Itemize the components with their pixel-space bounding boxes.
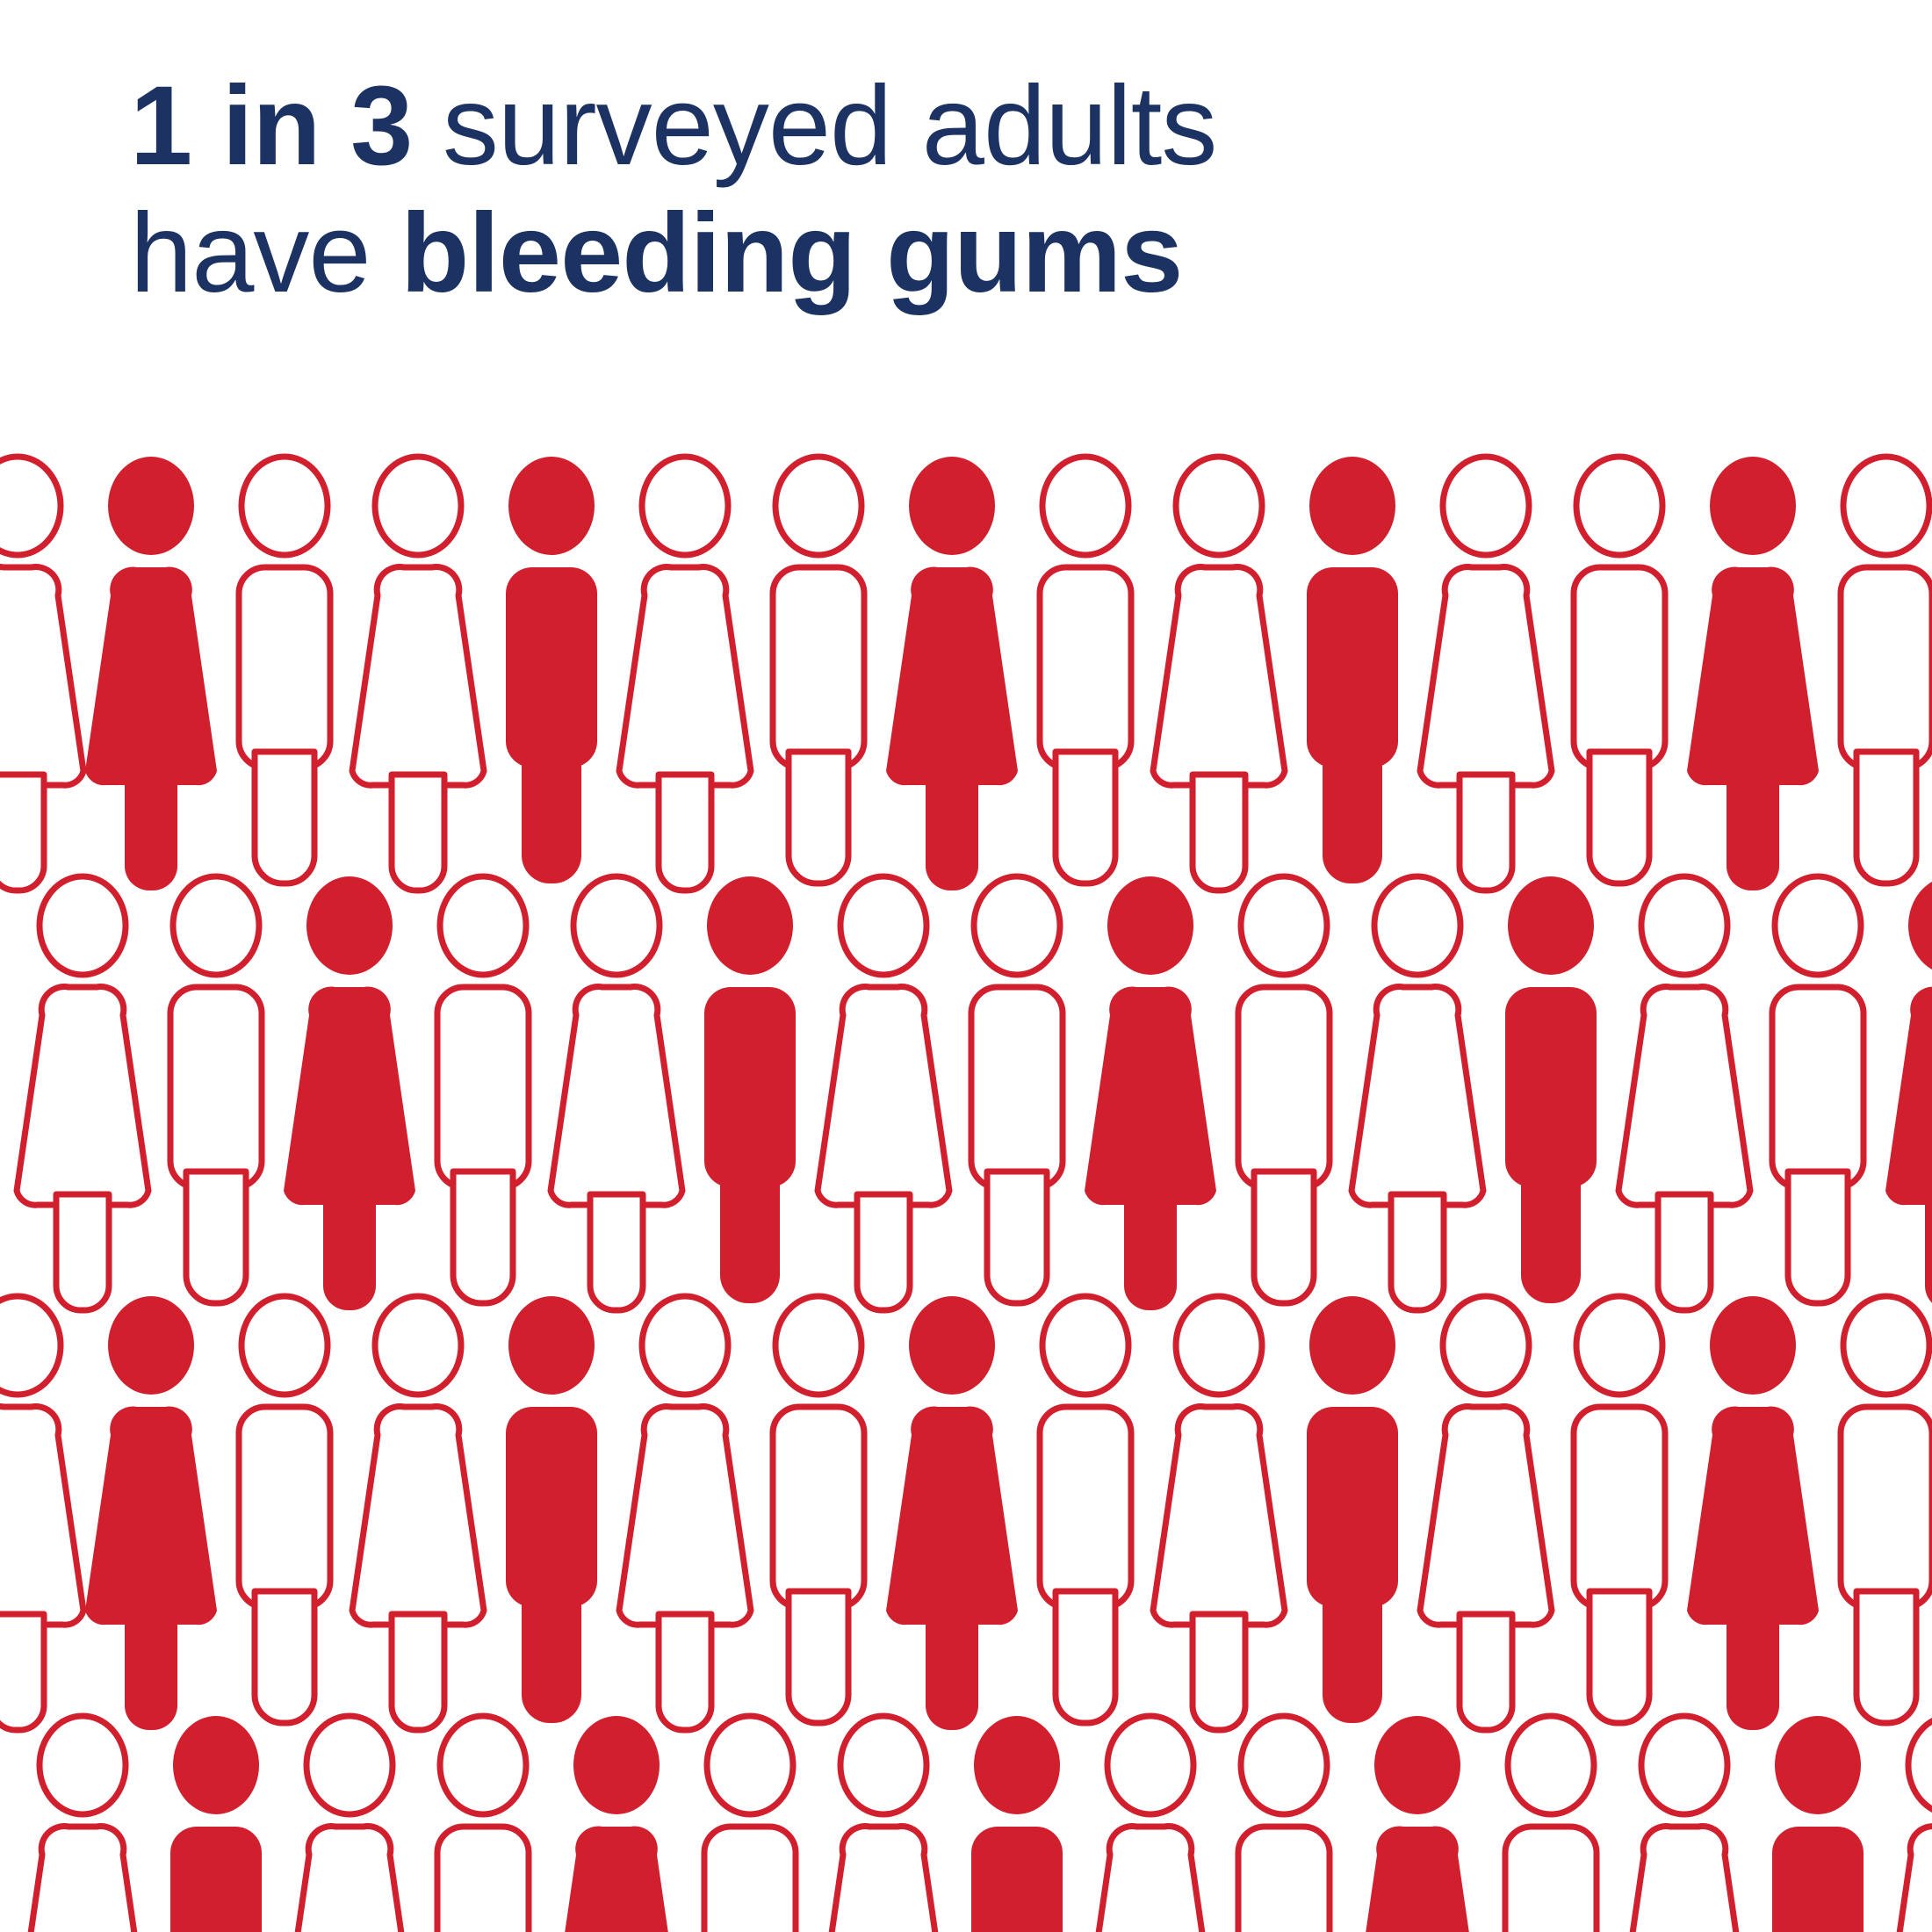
person-icon-male-outline <box>1238 1716 1330 1932</box>
person-icon-female-filled <box>1687 457 1819 890</box>
person-icon-male-outline <box>1238 876 1330 1303</box>
person-icon-male-outline <box>437 876 529 1303</box>
person-icon-male-outline <box>1040 457 1131 883</box>
person-icon-female-outline <box>352 457 484 890</box>
person-icon-male-filled <box>1307 1296 1398 1723</box>
person-icon-male-filled <box>1505 876 1597 1303</box>
person-icon-male-outline <box>704 1716 796 1932</box>
person-icon-male-outline <box>1040 1296 1131 1723</box>
person-icon-female-outline <box>1153 457 1285 890</box>
person-icon-male-outline <box>1772 876 1864 1303</box>
person-icon-female-filled <box>85 1296 217 1730</box>
person-icon-male-filled <box>971 1716 1063 1932</box>
person-icon-male-outline <box>170 876 262 1303</box>
person-icon-female-outline <box>818 1716 949 1932</box>
person-icon-female-outline <box>352 1296 484 1730</box>
person-icon-female-outline <box>1618 876 1750 1310</box>
person-icon-male-filled <box>506 1296 597 1723</box>
person-icon-female-outline <box>1352 876 1483 1310</box>
person-icon-male-outline <box>1505 1716 1597 1932</box>
person-icon-female-outline <box>551 876 682 1310</box>
person-icon-female-outline <box>17 1716 148 1932</box>
person-icon-female-outline <box>1618 1716 1750 1932</box>
person-icon-male-filled <box>1772 1716 1864 1932</box>
person-icon-female-filled <box>1085 876 1216 1310</box>
person-icon-female-outline <box>17 876 148 1310</box>
person-icon-female-outline <box>619 1296 751 1730</box>
person-icon-female-filled <box>886 457 1018 890</box>
person-icon-male-filled <box>170 1716 262 1932</box>
pictogram-figures <box>0 0 1932 1932</box>
person-icon-female-filled <box>1352 1716 1483 1932</box>
person-icon-male-outline <box>773 1296 864 1723</box>
person-icon-female-filled <box>551 1716 682 1932</box>
person-icon-male-outline <box>1574 457 1665 883</box>
person-icon-female-filled <box>1885 876 1932 1310</box>
person-icon-male-outline <box>971 876 1063 1303</box>
person-icon-male-outline <box>1841 1296 1932 1723</box>
person-icon-male-outline <box>1841 457 1932 883</box>
person-icon-male-outline <box>437 1716 529 1932</box>
person-icon-male-outline <box>239 1296 330 1723</box>
person-icon-female-filled <box>85 457 217 890</box>
person-icon-female-outline <box>1885 1716 1932 1932</box>
person-icon-female-outline <box>284 1716 415 1932</box>
person-icon-female-filled <box>284 876 415 1310</box>
person-icon-female-outline <box>0 457 83 890</box>
person-icon-female-outline <box>1153 1296 1285 1730</box>
pictogram-chart <box>0 0 1932 1932</box>
person-icon-male-outline <box>1574 1296 1665 1723</box>
person-icon-female-outline <box>619 457 751 890</box>
person-icon-male-filled <box>1307 457 1398 883</box>
person-icon-female-outline <box>1420 457 1552 890</box>
person-icon-female-outline <box>0 1296 83 1730</box>
person-icon-female-outline <box>818 876 949 1310</box>
infographic-canvas: 1 in 3 surveyed adults have bleeding gum… <box>0 0 1932 1932</box>
person-icon-female-outline <box>1085 1716 1216 1932</box>
person-icon-female-filled <box>886 1296 1018 1730</box>
person-icon-male-filled <box>704 876 796 1303</box>
person-icon-male-outline <box>239 457 330 883</box>
person-icon-male-outline <box>773 457 864 883</box>
person-icon-male-filled <box>506 457 597 883</box>
person-icon-female-outline <box>1420 1296 1552 1730</box>
person-icon-female-filled <box>1687 1296 1819 1730</box>
